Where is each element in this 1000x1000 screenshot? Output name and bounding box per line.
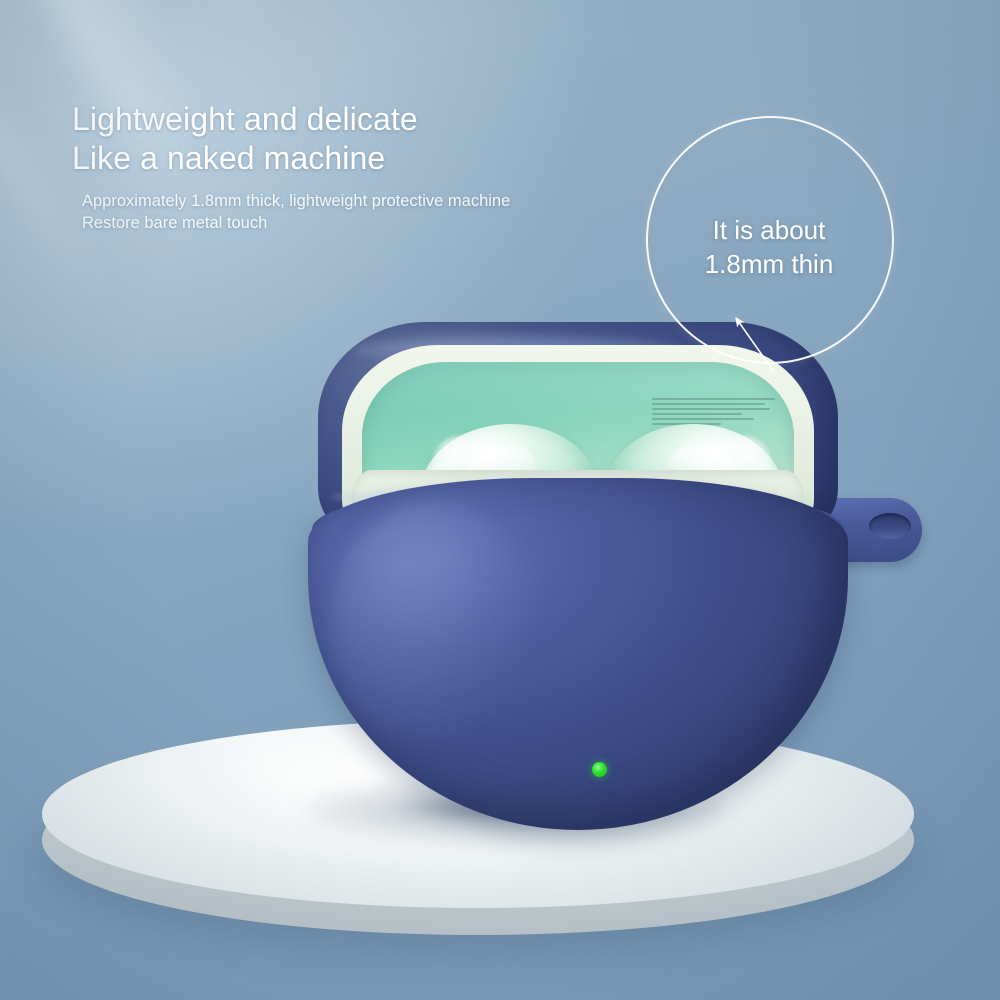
product-banner: Lightweight and delicate Like a naked ma…	[0, 0, 1000, 1000]
background-vignette	[0, 0, 1000, 1000]
